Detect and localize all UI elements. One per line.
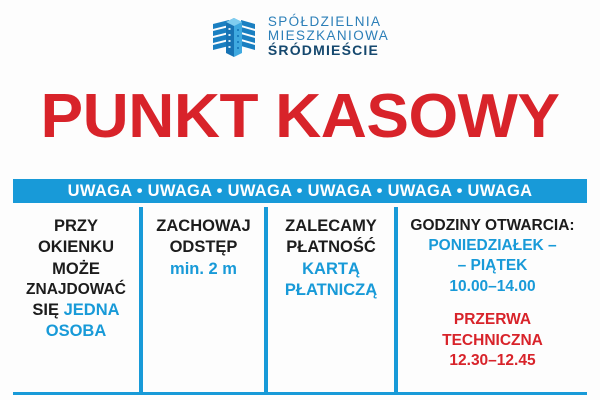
col4-blue-line-1: PONIEDZIAŁEK – [402,236,583,256]
col2-line-1: ZACHOWAJ [147,216,260,237]
logo-wordmark: SPÓŁDZIELNIA MIESZKANIOWA ŚRÓDMIEŚCIE [268,15,389,59]
col4-blue-line-3: 10.00–14.00 [402,277,583,297]
col1-line-1: PRZY [17,216,135,237]
col1-line-4: ZNAJDOWAĆ [17,280,135,300]
column-opening-hours: GODZINY OTWARCIA: PONIEDZIAŁEK – – PIĄTE… [398,207,587,392]
attention-banner: UWAGA • UWAGA • UWAGA • UWAGA • UWAGA • … [13,179,587,203]
col4-blue-line-2: – PIĄTEK [402,256,583,276]
col3-line-2: PŁATNOŚĆ [272,237,390,258]
column-keep-distance: ZACHOWAJ ODSTĘP min. 2 m [143,207,268,392]
col4-red-line-1: PRZERWA [402,310,583,330]
col1-line-6: OSOBA [17,321,135,342]
col3-line-1: ZALECAMY [272,216,390,237]
column-one-person: PRZY OKIENKU MOŻE ZNAJDOWAĆ SIĘ JEDNA OS… [13,207,143,392]
column-card-payment: ZALECAMY PŁATNOŚĆ KARTĄ PŁATNICZĄ [268,207,398,392]
page-title: PUNKT KASOWY [0,86,600,148]
col4-red-line-2: TECHNICZNA [402,331,583,351]
logo-line-3: ŚRÓDMIEŚCIE [268,43,389,58]
col1-line-2: OKIENKU [17,237,135,258]
col4-spacer [402,297,583,310]
col1-line-5-blue: JEDNA [64,301,120,319]
col2-line-3: min. 2 m [147,259,260,280]
col2-line-2: ODSTĘP [147,237,260,258]
col3-line-3: KARTĄ [272,259,390,280]
col1-line-5-black: SIĘ [32,301,59,319]
col4-red-line-3: 12.30–12.45 [402,351,583,371]
building-blocks-icon [211,13,257,61]
col4-heading: GODZINY OTWARCIA: [402,216,583,236]
attention-banner-text: UWAGA • UWAGA • UWAGA • UWAGA • UWAGA • … [68,182,533,201]
col1-line-5: SIĘ JEDNA [17,300,135,321]
logo-line-1: SPÓŁDZIELNIA [268,15,389,29]
poster: SPÓŁDZIELNIA MIESZKANIOWA ŚRÓDMIEŚCIE PU… [0,0,600,400]
col3-line-4: PŁATNICZĄ [272,280,390,301]
col1-line-3: MOŻE [17,259,135,280]
info-columns: PRZY OKIENKU MOŻE ZNAJDOWAĆ SIĘ JEDNA OS… [13,207,587,395]
header-logo: SPÓŁDZIELNIA MIESZKANIOWA ŚRÓDMIEŚCIE [0,0,600,62]
